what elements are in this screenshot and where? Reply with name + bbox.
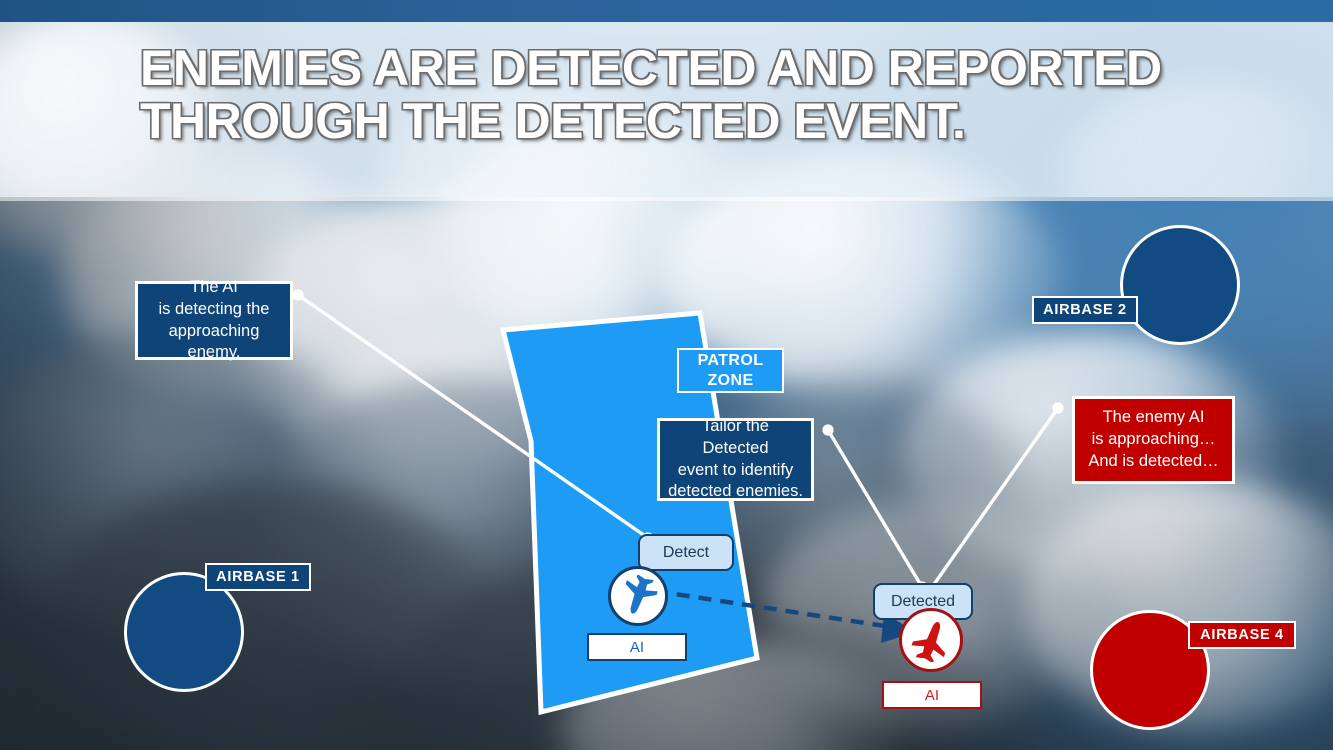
airbase-4-label-text: AIRBASE 4: [1200, 627, 1284, 643]
enemy-jet-marker[interactable]: [899, 608, 963, 672]
airbase-1-label[interactable]: AIRBASE 1: [205, 563, 311, 591]
callout-tailor-detected-line-1: Tailor the Detected: [668, 416, 803, 460]
callout-tailor-detected-line-3: detected enemies.: [668, 481, 803, 503]
callout-tailor-detected-line-2: event to identify: [678, 460, 794, 482]
airbase-1-label-text: AIRBASE 1: [216, 569, 300, 585]
friendly-jet-marker[interactable]: [608, 566, 668, 626]
callout-enemy-approaching-line-1: The enemy AI: [1103, 407, 1205, 429]
callout-ai-detecting-line-1: The AI: [190, 277, 238, 299]
airbase-2-circle[interactable]: [1120, 225, 1240, 345]
callout-tailor-detected[interactable]: Tailor the Detected event to identify de…: [657, 418, 814, 501]
callout-ai-detecting[interactable]: The AI is detecting the approaching enem…: [135, 281, 293, 360]
callout-enemy-approaching-line-3: And is detected…: [1088, 451, 1218, 473]
callout-ai-detecting-line-3: approaching enemy.: [146, 321, 282, 365]
leader-line-enemy-approaching: [924, 402, 1063, 595]
airbase-4-label[interactable]: AIRBASE 4: [1188, 621, 1296, 649]
enemy-jet-ai-label-text: AI: [925, 687, 939, 704]
slide-canvas: ENEMIES ARE DETECTED AND REPORTED THROUG…: [0, 0, 1333, 750]
airbase-2-label[interactable]: AIRBASE 2: [1032, 296, 1138, 324]
patrol-zone-label-line-1: PATROL: [698, 351, 764, 371]
detect-event-label: Detect: [663, 544, 709, 562]
friendly-jet-ai-label-text: AI: [630, 639, 644, 656]
friendly-jet-ai-label[interactable]: AI: [587, 633, 687, 661]
leader-line-tailor-detected: [822, 424, 927, 592]
callout-enemy-approaching[interactable]: The enemy AI is approaching… And is dete…: [1072, 396, 1235, 484]
fighter-jet-icon: [617, 575, 659, 617]
detect-event-badge[interactable]: Detect: [638, 534, 734, 571]
patrol-zone-label-line-2: ZONE: [707, 371, 753, 391]
airbase-2-label-text: AIRBASE 2: [1043, 302, 1127, 318]
fighter-jet-icon: [909, 618, 953, 662]
patrol-zone-label[interactable]: PATROL ZONE: [677, 348, 784, 393]
enemy-jet-ai-label[interactable]: AI: [882, 681, 982, 709]
callout-ai-detecting-line-2: is detecting the: [159, 299, 270, 321]
callout-enemy-approaching-line-2: is approaching…: [1092, 429, 1216, 451]
